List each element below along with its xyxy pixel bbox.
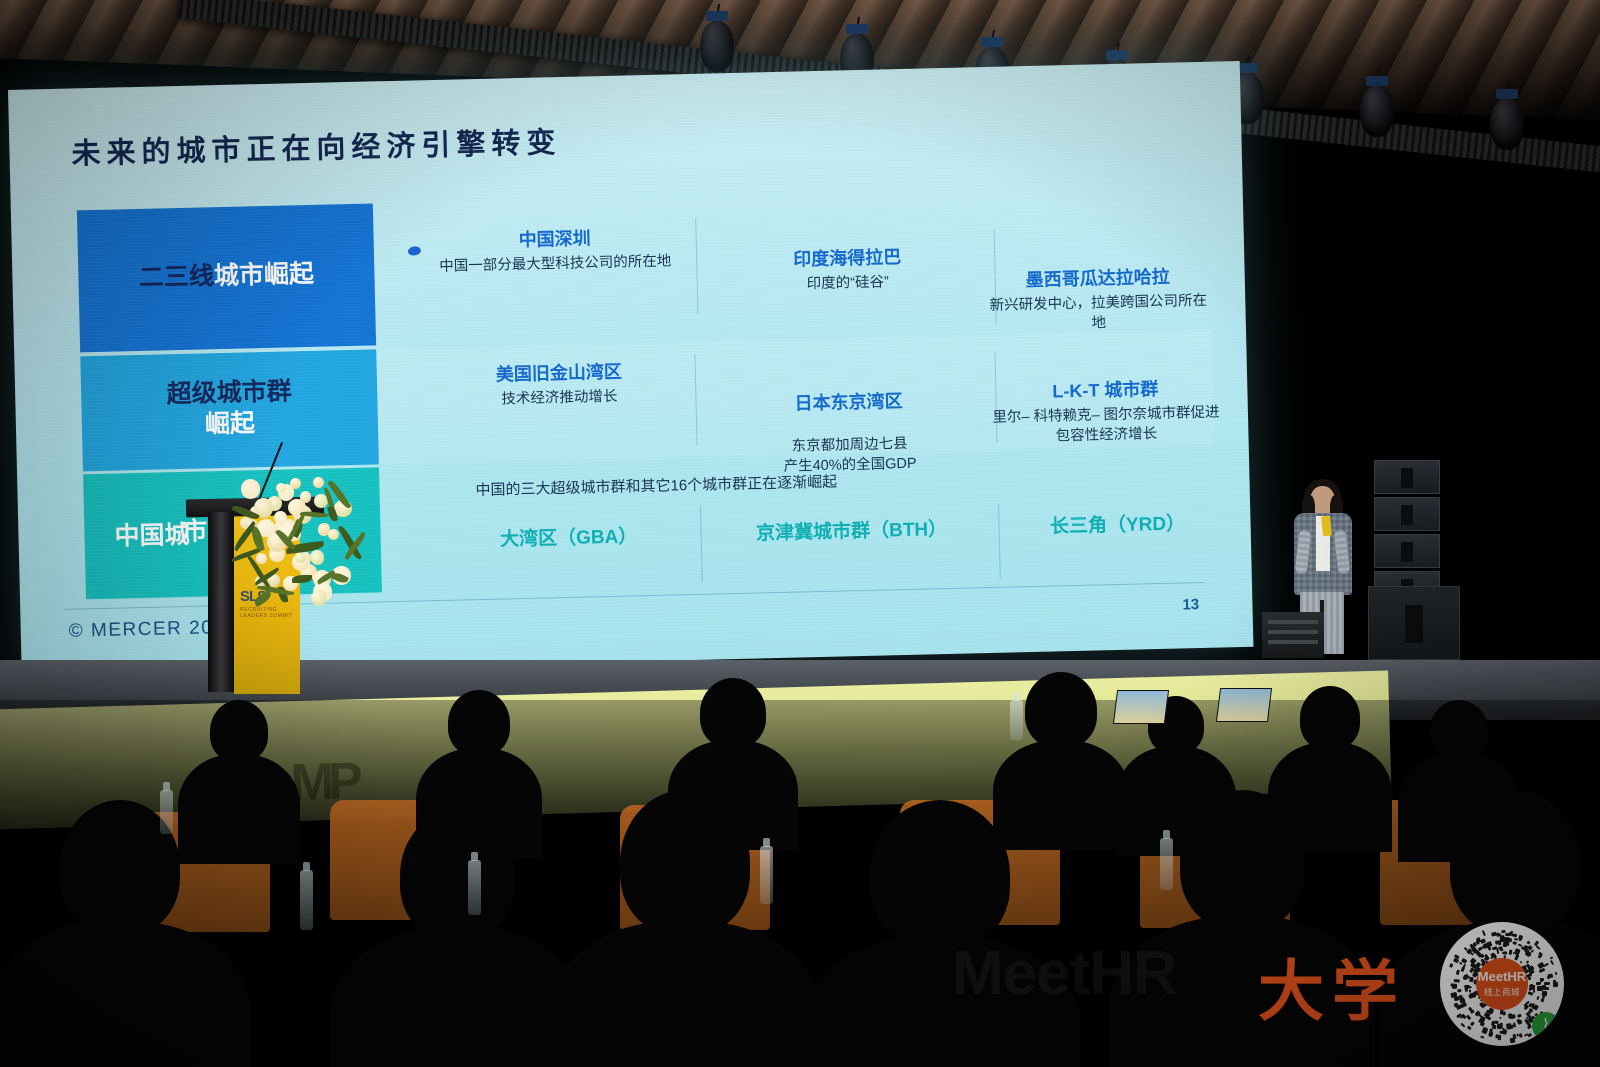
qr-module [1543, 986, 1549, 989]
flower [274, 511, 287, 524]
flower-arrangement [228, 470, 358, 630]
cell-heading: 墨西哥瓜达拉哈拉 [984, 262, 1211, 293]
laptop [1113, 690, 1169, 724]
audience-head [1430, 700, 1488, 760]
audience-head [870, 800, 1010, 950]
qr-module [1526, 940, 1530, 944]
audience-head [700, 678, 766, 748]
stage-light [1490, 98, 1524, 150]
category-block-tier-two-three: 二三线城市崛起 [77, 203, 376, 352]
qr-module [1536, 982, 1541, 985]
cell-body: 中国一部分最大型科技公司的所在地 [430, 252, 680, 277]
flower [295, 552, 306, 563]
qr-module [1540, 998, 1544, 1003]
qr-module [1499, 1025, 1503, 1029]
stage-light [700, 20, 734, 72]
qr-module [1535, 945, 1540, 950]
equipment-rack [1262, 612, 1324, 658]
qr-module [1451, 983, 1455, 986]
qr-module [1470, 1021, 1475, 1026]
qr-module [1455, 970, 1459, 976]
water-bottle [1160, 838, 1173, 890]
qr-module [1482, 930, 1486, 936]
cell-body: 印度的“硅谷” [725, 271, 971, 296]
cell-heading: 中国深圳 [429, 222, 680, 254]
flower [311, 590, 327, 606]
column-divider [998, 505, 1001, 579]
cell-lkt-cluster: L-K-T 城市群 里尔– 科特赖克– 图尔奈城市群促进包容性经济增长 [989, 374, 1223, 449]
qr-module [1553, 981, 1558, 986]
cell-heading: 日本东京湾区 [723, 385, 974, 417]
audience-head [620, 790, 750, 935]
audience-head [448, 690, 510, 756]
category-label-white-1: 崛起 [205, 409, 256, 438]
flower [313, 477, 324, 488]
wechat-icon: ⌇ [1532, 1012, 1560, 1040]
water-bottle [468, 860, 481, 915]
laptop [1216, 688, 1272, 722]
water-bottle [760, 846, 773, 904]
cluster-yrd: 长三角（YRD） [1012, 508, 1223, 540]
qr-module [1500, 948, 1503, 952]
content-row-tier-two-three: 中国深圳 中国一部分最大型科技公司的所在地 印度海得拉巴 印度的“硅谷” 墨西哥… [373, 184, 1212, 346]
foliage [292, 575, 312, 583]
qr-module [1480, 1035, 1485, 1039]
qr-module [1503, 1011, 1506, 1015]
qr-module [1526, 960, 1530, 964]
qr-module [1550, 959, 1554, 964]
copyright-notice: © MERCER 201 [69, 617, 226, 643]
audience-head [1180, 790, 1305, 930]
daxue-brand-text: 大学 [1258, 938, 1406, 1034]
slide-title: 未来的城市正在向经济引擎转变 [71, 119, 562, 173]
flower [256, 553, 267, 564]
qr-module [1450, 964, 1454, 968]
qr-module [1517, 1013, 1522, 1018]
qr-module [1533, 990, 1536, 994]
flower [319, 523, 330, 534]
qr-module [1491, 932, 1496, 937]
category-label-navy-0: 二三线 [139, 262, 215, 292]
qr-module [1498, 1037, 1501, 1040]
column-divider [694, 354, 697, 446]
water-bottle [160, 790, 173, 834]
audience-head [210, 700, 268, 762]
conference-photo: 未来的城市正在向经济引擎转变 二三线城市崛起 超级城市群 崛起 市群崛起 中国城 [0, 0, 1600, 1067]
qr-module [1505, 933, 1510, 937]
qr-module [1468, 977, 1473, 983]
qr-module [1499, 1017, 1501, 1020]
audience-shoulders [993, 740, 1129, 850]
audience-shoulders [550, 921, 820, 1067]
water-bottle [300, 870, 313, 930]
qr-code[interactable]: MeetHR 线上商城 ⌇ [1440, 922, 1564, 1046]
qr-module [1503, 941, 1506, 945]
column-divider [700, 506, 703, 582]
content-row-super-clusters: 美国旧金山湾区 技术经济推动增长 日本东京湾区 东京都加周边七县 产生40%的全… [376, 330, 1214, 465]
meethr-watermark: MeetHR [952, 938, 1177, 1009]
cluster-bth: 京津冀城市群（BTH） [728, 513, 975, 546]
qr-module [1509, 1038, 1515, 1044]
cell-heading: 印度海得拉巴 [724, 241, 971, 273]
qr-center-badge: MeetHR 线上商城 [1476, 958, 1528, 1010]
qr-module [1478, 1014, 1483, 1019]
qr-subtitle: 线上商城 [1484, 986, 1520, 998]
qr-module [1483, 1028, 1488, 1034]
cluster-gba: 大湾区（GBA） [458, 520, 679, 552]
flower [290, 478, 301, 489]
qr-module [1507, 1023, 1512, 1029]
audience-head [1450, 790, 1580, 935]
row-lead-text: 中国的三大超级城市群和其它16个城市群正在逐渐崛起 [475, 471, 837, 501]
cell-body: 技术经济推动增长 [439, 386, 679, 411]
qr-module [1542, 991, 1548, 996]
foliage [252, 589, 273, 607]
cell-body: 里尔– 科特赖克– 图尔奈城市群促进包容性经济增长 [990, 403, 1223, 448]
category-label-navy-2: 中国城 [114, 521, 190, 551]
qr-module [1461, 966, 1466, 972]
bullet-marker [407, 245, 421, 256]
qr-module [1468, 990, 1470, 993]
flower [311, 552, 325, 566]
content-row-china-clusters: 中国的三大超级城市群和其它16个城市群正在逐渐崛起 大湾区（GBA） 京津冀城市… [379, 448, 1218, 593]
qr-module [1513, 1022, 1516, 1028]
projection-screen: 未来的城市正在向经济引擎转变 二三线城市崛起 超级城市群 崛起 市群崛起 中国城 [8, 61, 1253, 676]
qr-module [1460, 1002, 1467, 1008]
pa-subwoofer [1368, 586, 1460, 660]
qr-module [1457, 989, 1462, 993]
page-number: 13 [1182, 596, 1199, 613]
pa-speaker-box [1374, 497, 1440, 531]
audience-shoulders [178, 754, 300, 864]
qr-module [1510, 1014, 1516, 1019]
handheld-microphone [1321, 516, 1332, 537]
qr-module [1544, 982, 1550, 985]
qr-module [1512, 941, 1516, 945]
category-block-super-clusters: 超级城市群 崛起 [80, 349, 379, 471]
category-label-white-0: 城市崛起 [214, 260, 315, 290]
qr-module [1454, 979, 1460, 983]
qr-module [1539, 968, 1545, 973]
water-bottle [1010, 700, 1023, 740]
qr-module [1519, 1033, 1523, 1037]
qr-module [1468, 986, 1472, 988]
stage-light [1360, 85, 1394, 137]
audience-head [1025, 672, 1097, 748]
qr-module [1537, 954, 1542, 959]
qr-module [1466, 1015, 1472, 1021]
wechat-glyph: ⌇ [1542, 1016, 1550, 1036]
qr-module [1528, 992, 1534, 996]
qr-module [1520, 961, 1523, 964]
qr-module [1462, 976, 1467, 980]
cell-heading: 美国旧金山湾区 [439, 356, 680, 388]
qr-module [1517, 1019, 1522, 1024]
qr-module [1503, 952, 1507, 955]
qr-title: MeetHR [1478, 970, 1526, 983]
qr-module [1536, 996, 1539, 1000]
cell-guadalajara: 墨西哥瓜达拉哈拉 新兴研发中心，拉美跨国公司所在地 [984, 262, 1212, 336]
pa-speaker-box [1374, 460, 1440, 494]
qr-module [1468, 994, 1473, 999]
flower [241, 479, 261, 499]
qr-module [1494, 1020, 1499, 1023]
qr-module [1454, 996, 1460, 1001]
column-divider [695, 218, 698, 314]
cell-sf-bay-area: 美国旧金山湾区 技术经济推动增长 [439, 356, 680, 411]
qr-module [1461, 1023, 1466, 1028]
category-label-navy-1: 超级城市群 [166, 377, 292, 408]
audience-head [400, 810, 515, 940]
audience-head [1300, 686, 1360, 750]
qr-module [1554, 972, 1557, 975]
cell-hyderabad: 印度海得拉巴 印度的“硅谷” [724, 241, 971, 296]
pa-speaker-box [1374, 534, 1440, 568]
qr-module [1503, 1029, 1507, 1033]
qr-module [1531, 985, 1535, 990]
cell-heading: L-K-T 城市群 [989, 374, 1222, 405]
cell-shenzhen: 中国深圳 中国一部分最大型科技公司的所在地 [429, 222, 680, 277]
qr-module [1508, 938, 1513, 942]
